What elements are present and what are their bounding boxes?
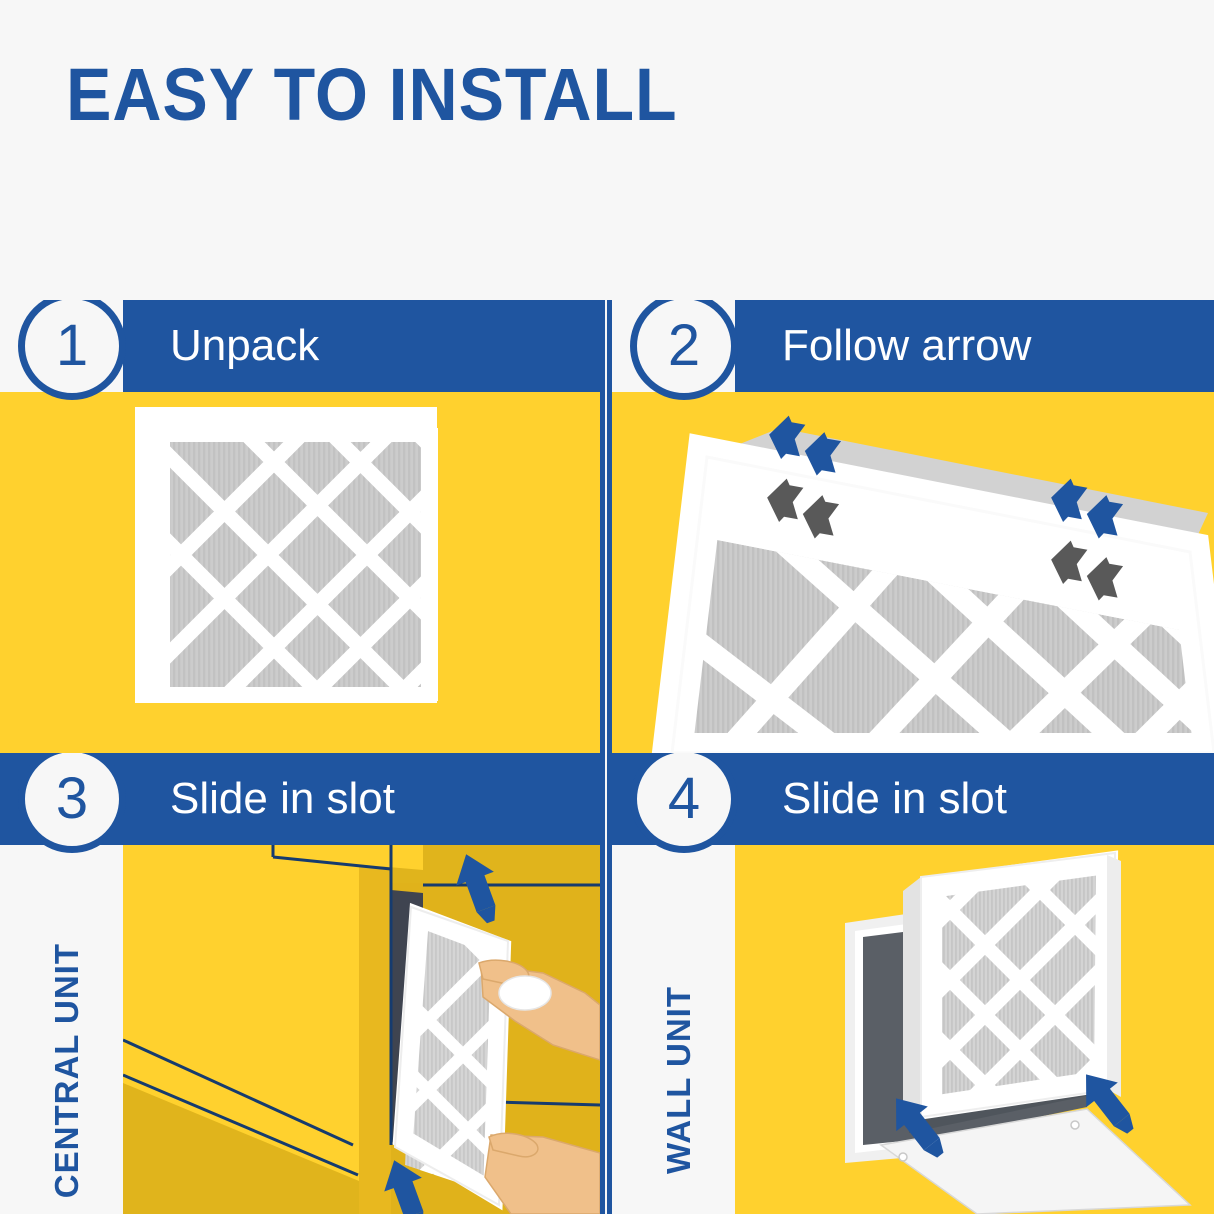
air-filter-front-view-graphic [0,392,600,753]
step-4-label: Slide in slot [782,774,1007,824]
step-2-illustration-stage [612,392,1214,753]
page-title: EASY TO INSTALL [66,55,677,135]
step-4-side-label: WALL UNIT [660,986,698,1174]
step-panel-1: Unpack 1 [0,300,600,753]
infographic-root: EASY TO INSTALL [0,0,1214,1214]
step-2-badge: 2 [630,300,738,400]
step-1-label: Unpack [170,321,319,371]
step-1-illustration-stage [0,392,600,753]
step-1-header: Unpack [123,300,600,392]
column-divider [600,300,612,1214]
step-4-number: 4 [668,770,700,828]
step-3-side-label: CENTRAL UNIT [48,943,86,1198]
central-unit-slide-graphic [123,845,600,1214]
wall-unit-slide-graphic [735,845,1214,1214]
step-panel-4: Slide in slot 4 WALL UNIT [612,753,1214,1214]
step-2-label: Follow arrow [782,321,1031,371]
air-filter-angled-airflow-graphic [612,392,1214,753]
step-2-number: 2 [668,317,700,375]
step-2-header: Follow arrow [735,300,1214,392]
step-1-number: 1 [56,317,88,375]
step-3-number: 3 [56,770,88,828]
step-4-illustration-stage [735,845,1214,1214]
step-3-illustration-stage [123,845,600,1214]
step-1-badge: 1 [18,300,126,400]
step-3-label: Slide in slot [170,774,395,824]
step-panel-3: Slide in slot 3 CENTRAL UNIT [0,753,600,1214]
step-panel-2: Follow arrow 2 [612,300,1214,753]
